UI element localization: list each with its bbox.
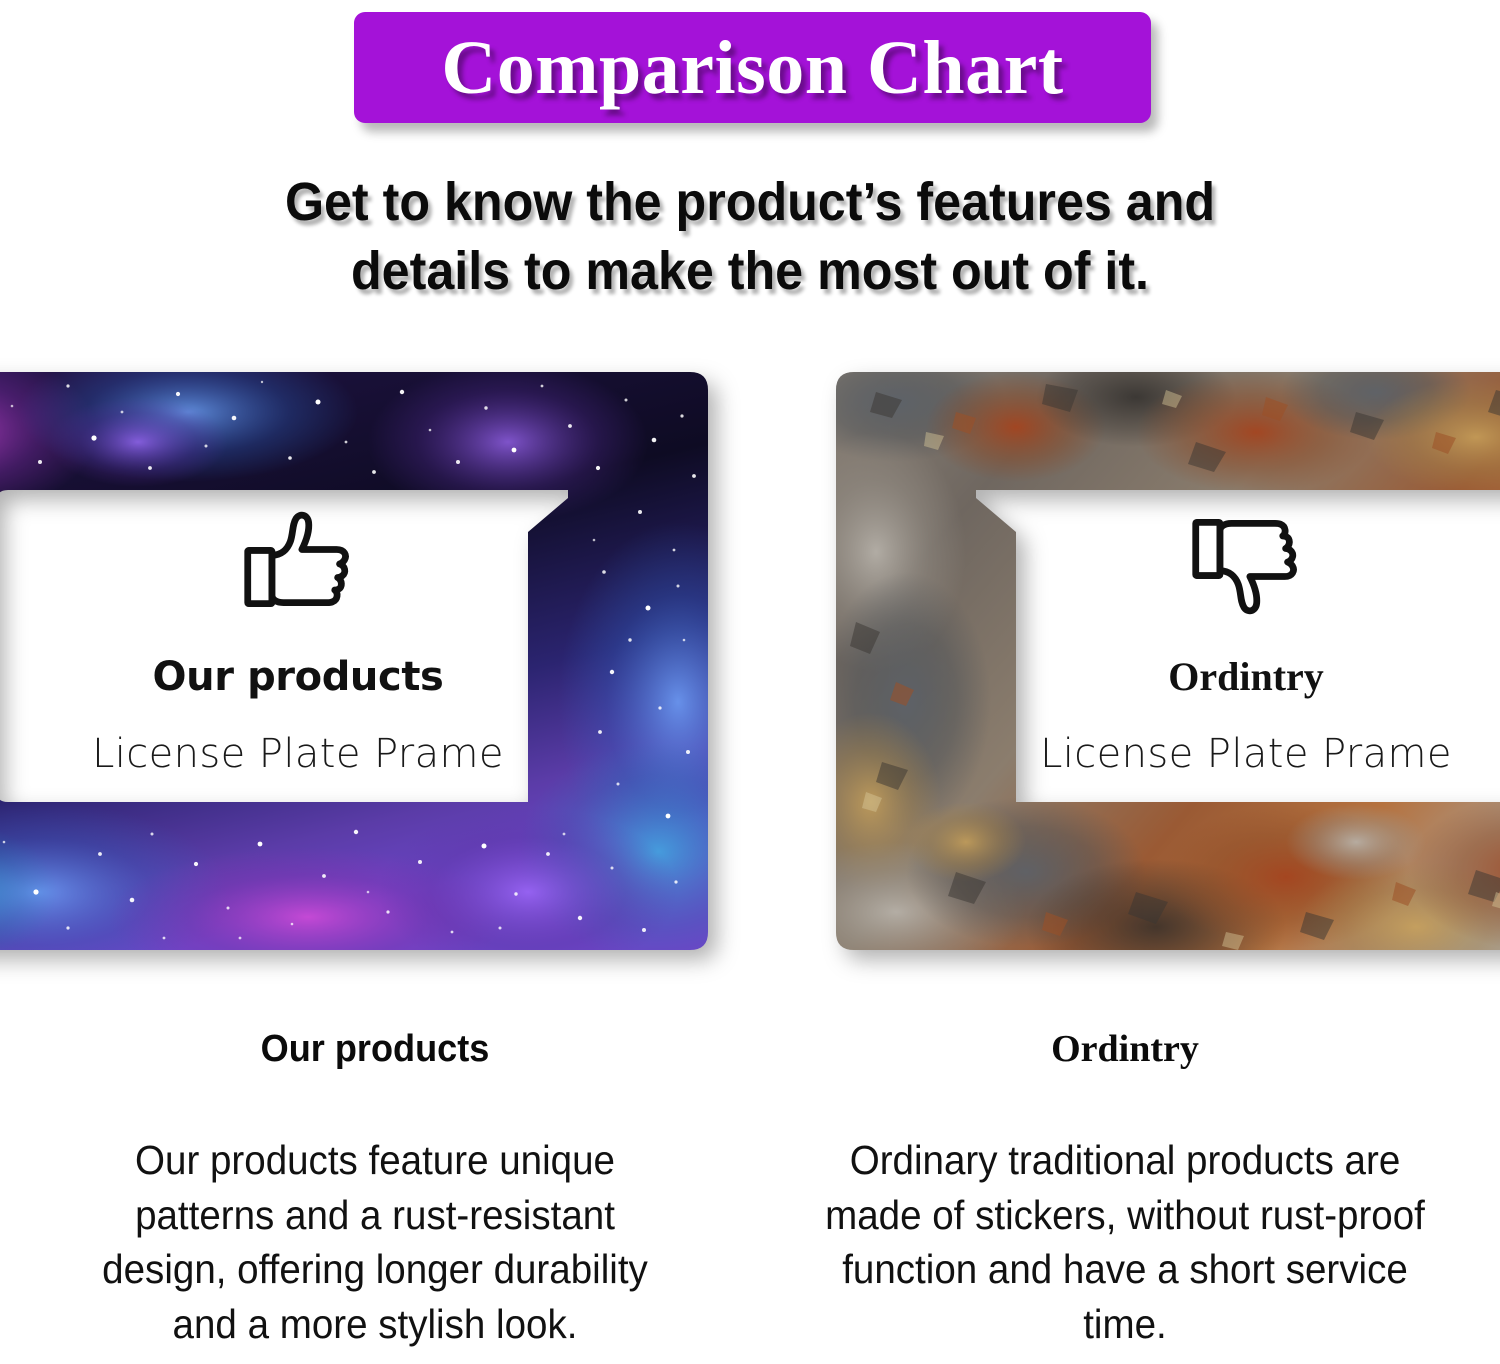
column-heading-ordintry: Ordintry <box>805 1030 1445 1068</box>
plate-frame-rust-svg <box>836 372 1500 950</box>
comparison-descriptions: Our products Our products feature unique… <box>0 1030 1500 1351</box>
plate-frame-galaxy-svg <box>0 372 708 950</box>
license-plate-frame-ordintry <box>836 372 1500 950</box>
license-plate-frame-ours <box>0 372 708 950</box>
comparison-chart-page: Comparison Chart Get to know the product… <box>0 0 1500 1364</box>
comparison-column-ordintry: Ordintry Ordinary traditional products a… <box>750 1030 1500 1351</box>
column-description-ordintry: Ordinary traditional products are made o… <box>824 1133 1426 1351</box>
column-heading-ours: Our products <box>71 1030 679 1068</box>
column-description-ours: Our products feature unique patterns and… <box>74 1133 676 1351</box>
comparison-column-ours: Our products Our products feature unique… <box>0 1030 750 1351</box>
